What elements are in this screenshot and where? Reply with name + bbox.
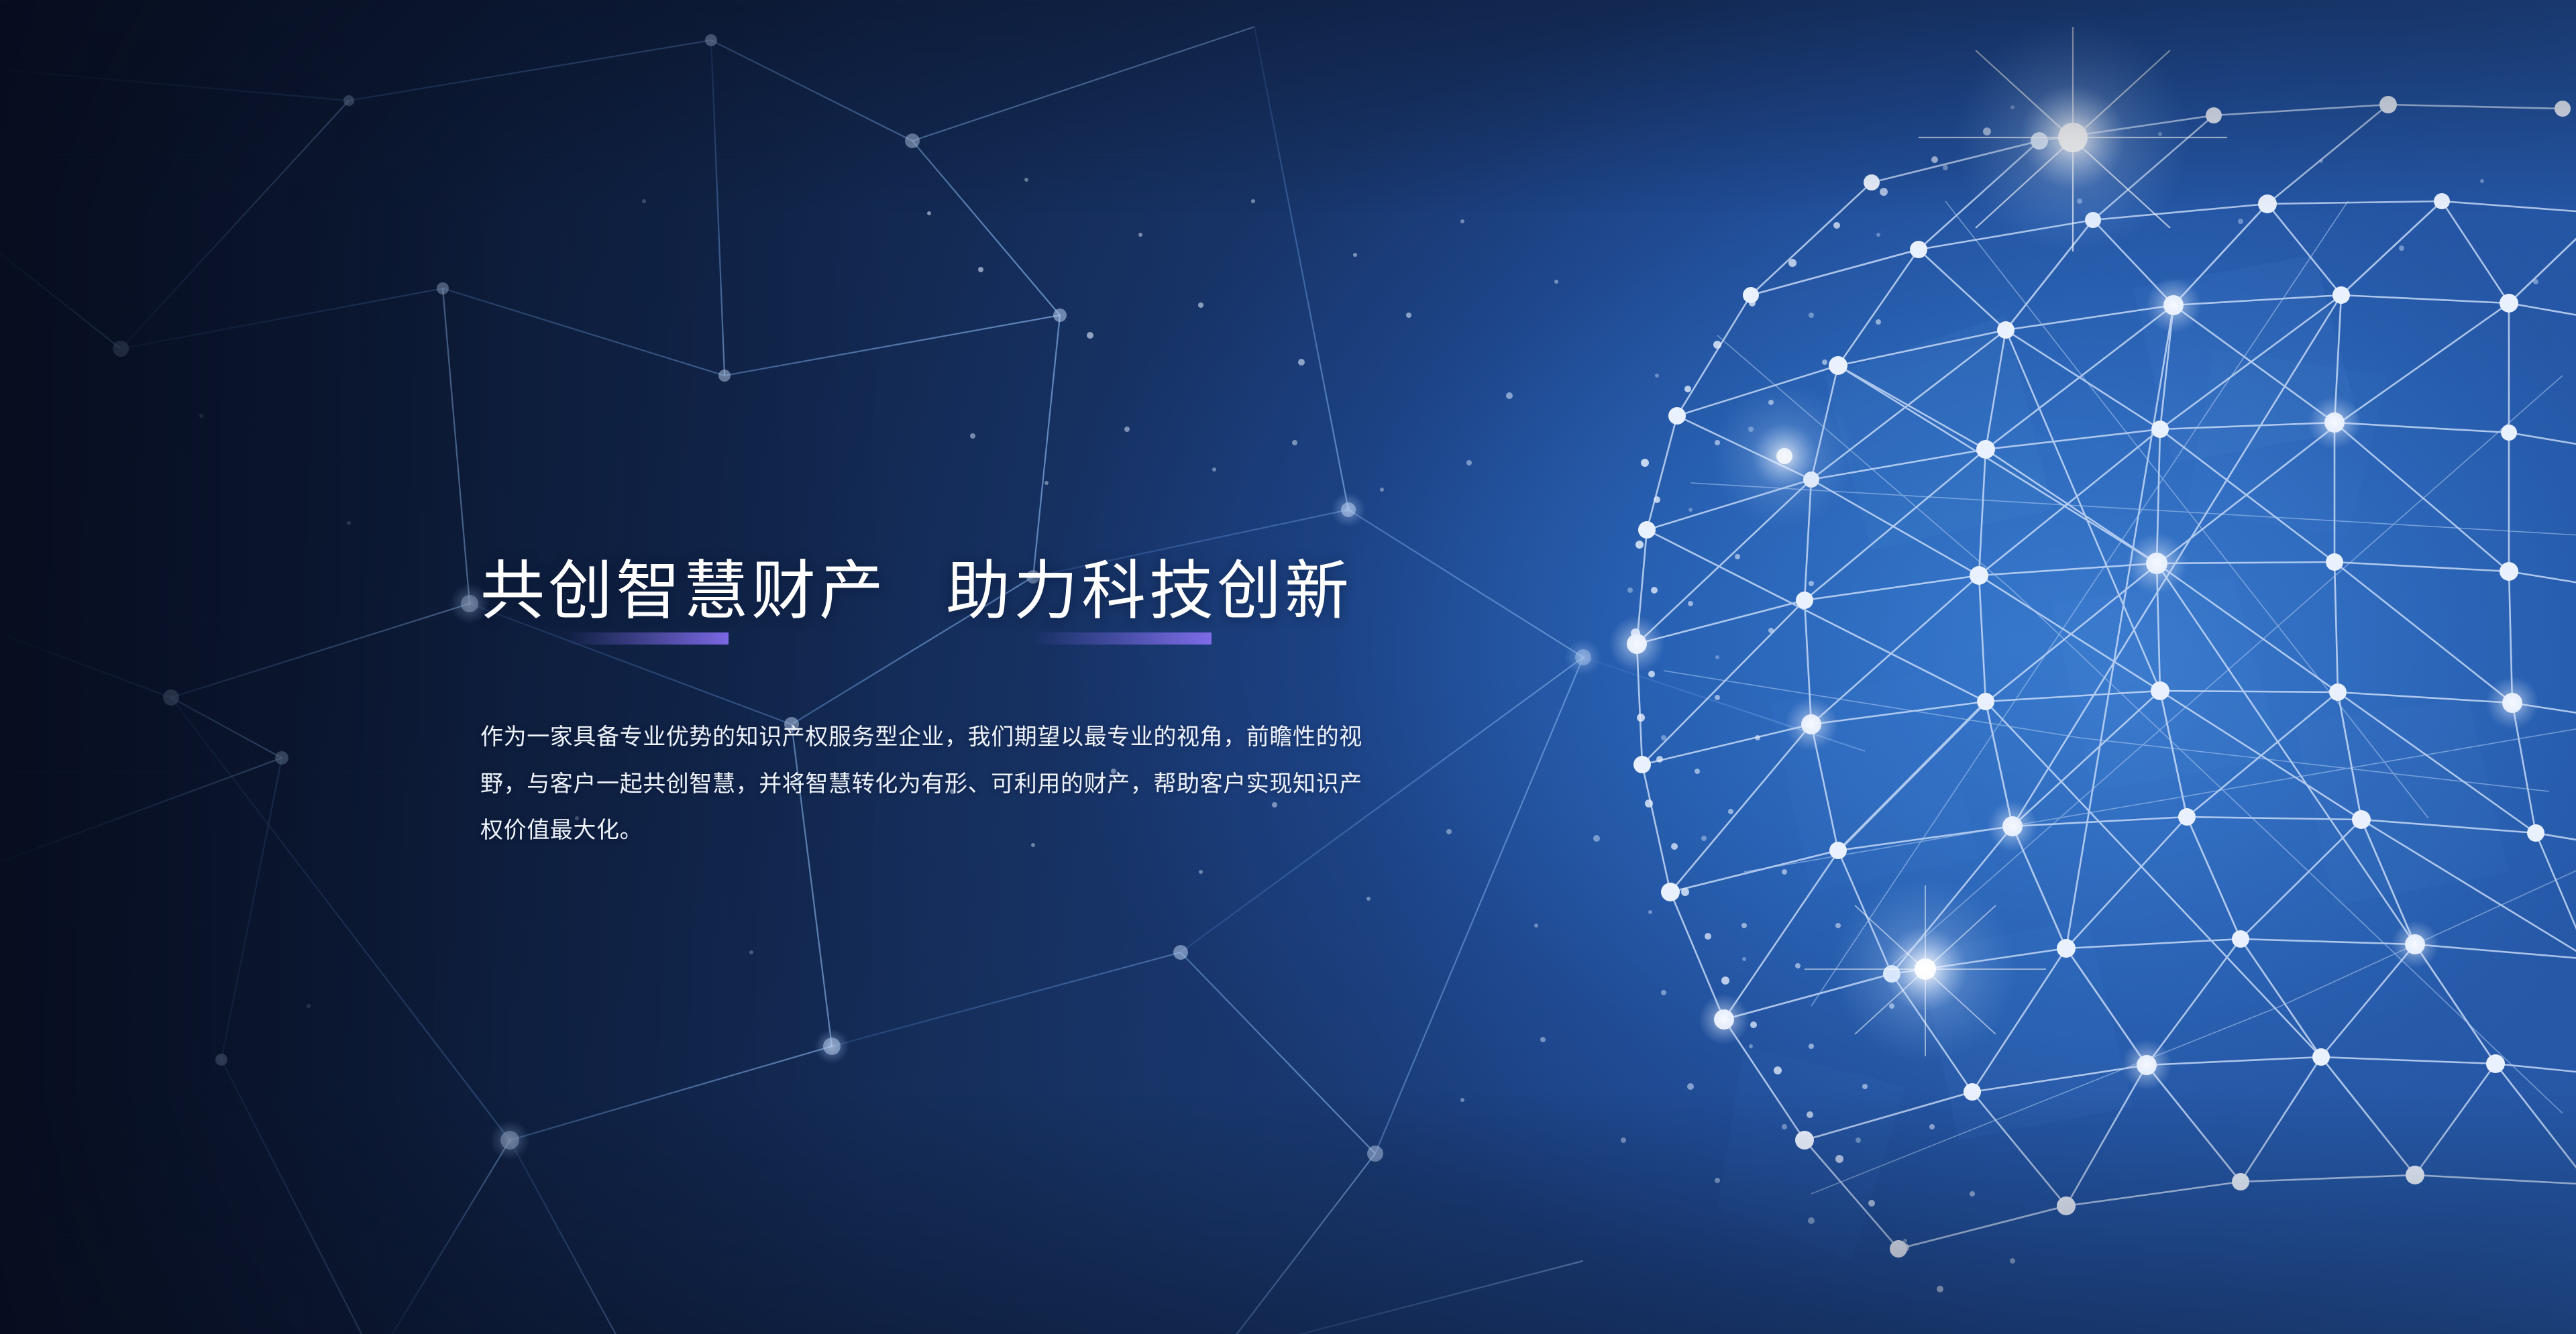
headline-segment-1: 共创智慧财产 bbox=[480, 554, 887, 628]
hero-headline: 共创智慧财产 助力科技创新 bbox=[480, 554, 1419, 628]
headline-accent-bar-1 bbox=[565, 632, 729, 645]
headline-accent-bar-2 bbox=[1030, 632, 1212, 645]
banner-hero: 共创智慧财产 助力科技创新 作为一家具备专业优势的知识产权服务型企业，我们期望以… bbox=[0, 0, 2576, 1334]
headline-text-secondary: 助力科技创新 bbox=[946, 554, 1352, 628]
hero-body-paragraph: 作为一家具备专业优势的知识产权服务型企业，我们期望以最专业的视角，前瞻性的视野，… bbox=[480, 714, 1385, 854]
hero-text-block: 共创智慧财产 助力科技创新 作为一家具备专业优势的知识产权服务型企业，我们期望以… bbox=[480, 554, 1419, 877]
headline-text-primary: 共创智慧财产 bbox=[480, 554, 887, 628]
headline-segment-2: 助力科技创新 bbox=[946, 554, 1352, 628]
